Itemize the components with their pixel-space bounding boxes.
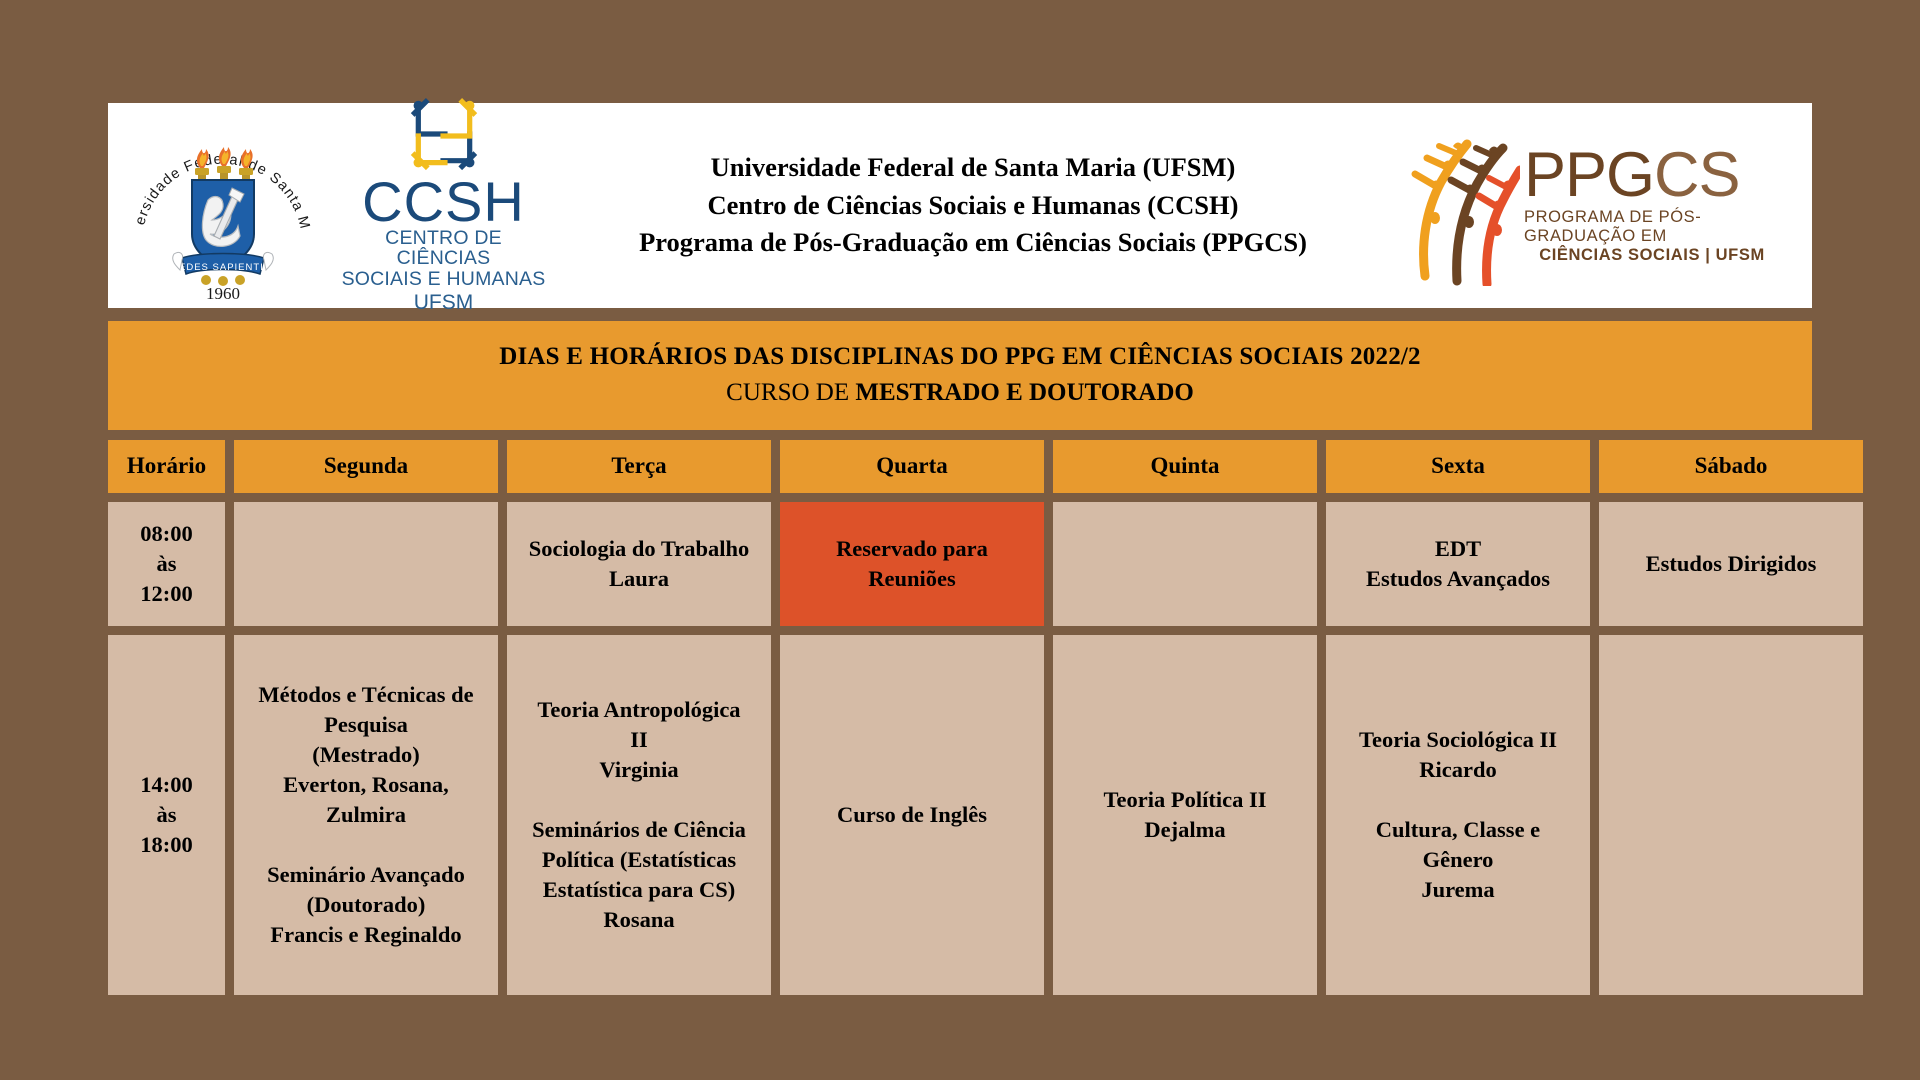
ppgcs-acronym-light: CS	[1654, 140, 1740, 210]
cell-afternoon-quinta: Teoria Política II Dejalma	[1053, 635, 1317, 995]
ufsm-seal-logo: Universidade Federal de Santa Maria	[122, 108, 322, 303]
cell-afternoon-quarta: Curso de Inglês	[780, 635, 1044, 995]
schedule-title-line-1: DIAS E HORÁRIOS DAS DISCIPLINAS DO PPG E…	[118, 339, 1802, 375]
ufsm-seal-icon: Universidade Federal de Santa Maria	[122, 108, 322, 303]
schedule-title-bar: DIAS E HORÁRIOS DAS DISCIPLINAS DO PPG E…	[108, 321, 1812, 430]
ppgcs-tree-icon	[1395, 126, 1520, 286]
ccsh-acronym: CCSH	[336, 176, 551, 228]
cell-afternoon-terca: Teoria Antropológica II Virginia Seminár…	[507, 635, 771, 995]
ccsh-line-3: UFSM	[336, 291, 551, 315]
schedule-poster: Universidade Federal de Santa Maria	[108, 103, 1812, 975]
institution-title: Universidade Federal de Santa Maria (UFS…	[551, 149, 1395, 262]
ccsh-line-2: SOCIAIS E HUMANAS	[336, 269, 551, 290]
cell-morning-segunda	[234, 502, 498, 626]
ppgcs-line-2: CIÊNCIAS SOCIAIS | UFSM	[1524, 246, 1780, 265]
schedule-title-prefix: CURSO DE	[726, 379, 855, 406]
cell-morning-quinta	[1053, 502, 1317, 626]
cell-afternoon-sexta: Teoria Sociológica II Ricardo Cultura, C…	[1326, 635, 1590, 995]
column-header-sabado: Sábado	[1599, 440, 1863, 493]
cell-morning-sabado: Estudos Dirigidos	[1599, 502, 1863, 626]
institution-line-2: Centro de Ciências Sociais e Humanas (CC…	[561, 187, 1385, 225]
ppgcs-acronym: PPGCS	[1524, 146, 1780, 206]
ufsm-seal-year: 1960	[206, 284, 240, 303]
ccsh-logo: CCSH CENTRO DE CIÊNCIAS SOCIAIS E HUMANA…	[336, 96, 551, 314]
cell-afternoon-segunda: Métodos e Técnicas de Pesquisa (Mestrado…	[234, 635, 498, 995]
ppgcs-acronym-dark: PPG	[1524, 140, 1654, 210]
column-header-segunda: Segunda	[234, 440, 498, 493]
column-header-horario: Horário	[108, 440, 225, 493]
time-slot-afternoon: 14:00 às 18:00	[108, 635, 225, 995]
ccsh-line-1: CENTRO DE CIÊNCIAS	[336, 228, 551, 269]
cell-morning-terca: Sociologia do Trabalho Laura	[507, 502, 771, 626]
institution-line-1: Universidade Federal de Santa Maria (UFS…	[561, 149, 1385, 187]
cell-morning-sexta: EDT Estudos Avançados	[1326, 502, 1590, 626]
time-slot-morning: 08:00 às 12:00	[108, 502, 225, 626]
schedule-table: Horário Segunda Terça Quarta Quinta Sext…	[108, 440, 1812, 995]
svg-text:SEDES SAPIENTIÆ: SEDES SAPIENTIÆ	[172, 262, 275, 273]
poster-header: Universidade Federal de Santa Maria	[108, 103, 1812, 308]
column-header-quinta: Quinta	[1053, 440, 1317, 493]
ppgcs-line-1: PROGRAMA DE PÓS-GRADUAÇÃO EM	[1524, 208, 1780, 246]
column-header-sexta: Sexta	[1326, 440, 1590, 493]
ppgcs-logo: PPGCS PROGRAMA DE PÓS-GRADUAÇÃO EM CIÊNC…	[1395, 118, 1798, 293]
cell-morning-quarta: Reservado para Reuniões	[780, 502, 1044, 626]
column-header-quarta: Quarta	[780, 440, 1044, 493]
ccsh-mark-icon	[401, 96, 487, 174]
table-row: 08:00 às 12:00 Sociologia do Trabalho La…	[108, 502, 1812, 626]
institution-line-3: Programa de Pós-Graduação em Ciências So…	[561, 224, 1385, 262]
table-header-row: Horário Segunda Terça Quarta Quinta Sext…	[108, 440, 1812, 493]
table-row: 14:00 às 18:00 Métodos e Técnicas de Pes…	[108, 635, 1812, 995]
column-header-terca: Terça	[507, 440, 771, 493]
schedule-title-line-2: CURSO DE MESTRADO E DOUTORADO	[118, 375, 1802, 411]
schedule-title-emphasis: MESTRADO E DOUTORADO	[855, 379, 1193, 406]
cell-afternoon-sabado	[1599, 635, 1863, 995]
